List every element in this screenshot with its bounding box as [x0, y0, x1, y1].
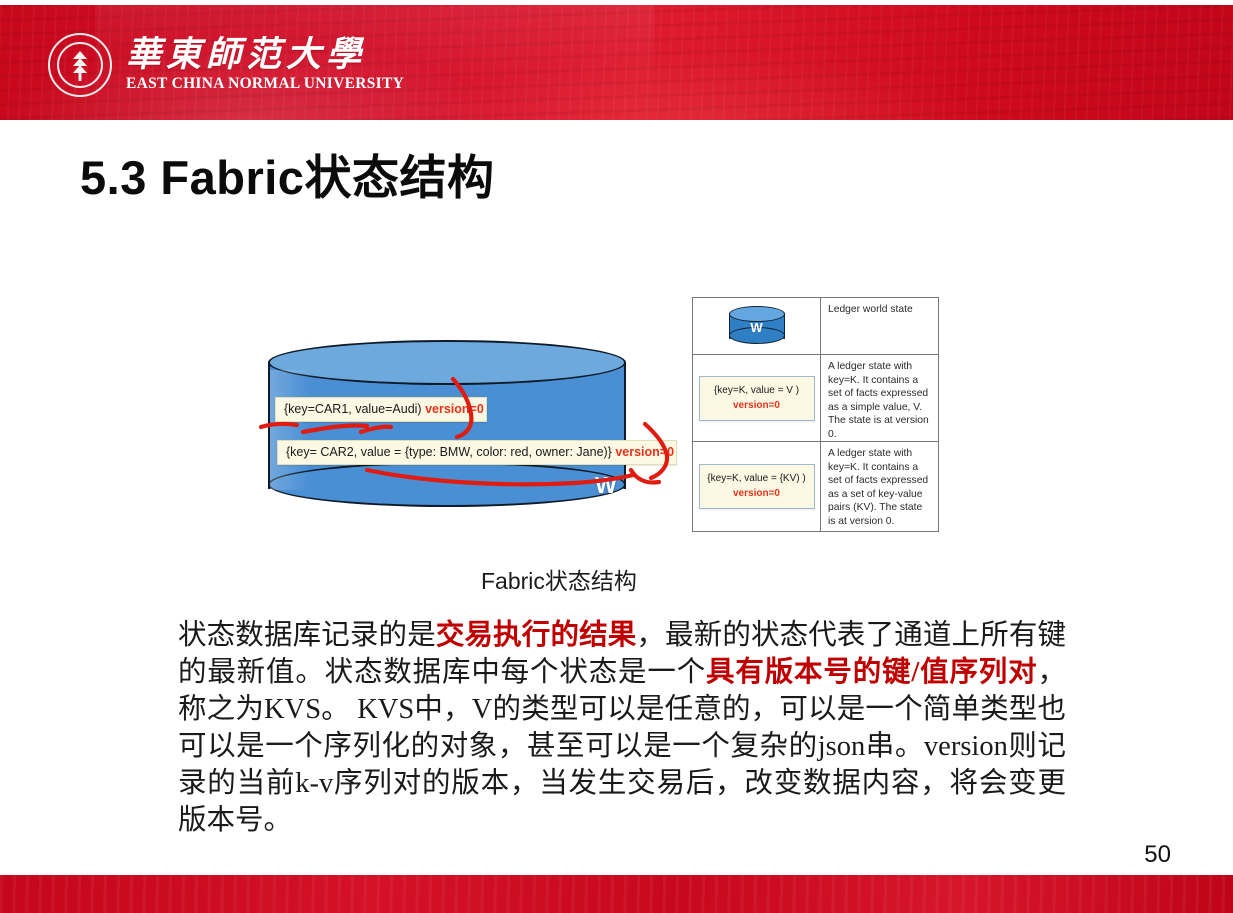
body-segment-3: 具有版本号的键/值序列对: [706, 657, 1037, 688]
university-seal-icon: [48, 33, 112, 97]
legend-icon-cell-3: {key=K, value = {KV) ) version=0: [693, 442, 821, 531]
kv-simple-version: version=0: [703, 398, 811, 413]
kv-box-car1-text: {key=CAR1, value=Audi): [284, 402, 425, 416]
cylinder-w-label: W: [595, 472, 617, 499]
university-wordmark: 華東師范大學 EAST CHINA NORMAL UNIVERSITY: [126, 37, 404, 94]
body-segment-1: 交易执行的结果: [436, 620, 637, 651]
cylinder-bottom: [268, 462, 626, 507]
page-number: 50: [1144, 841, 1171, 869]
body-paragraph: 状态数据库记录的是交易执行的结果，最新的状态代表了通道上所有键的最新值。状态数据…: [178, 617, 1066, 839]
legend-desc-2: A ledger state with key=K. It contains a…: [821, 355, 938, 441]
world-state-cylinder: [268, 340, 628, 510]
cylinder-top: [268, 340, 626, 385]
body-segment-0: 状态数据库记录的是: [178, 620, 436, 651]
mini-cylinder-w-label: W: [729, 320, 785, 335]
kv-box-car1: {key=CAR1, value=Audi) version=0: [275, 397, 487, 422]
kv-box-car1-version: version=0: [425, 402, 484, 416]
university-name-cn: 華東師范大學: [126, 37, 404, 73]
slide: 華東師范大學 EAST CHINA NORMAL UNIVERSITY 5.3 …: [0, 0, 1233, 913]
kv-simple-icon: {key=K, value = V ) version=0: [699, 376, 815, 421]
kv-pairs-text: {key=K, value = {KV) ): [707, 473, 805, 484]
world-state-cylinder-icon: W: [729, 306, 785, 346]
page-title: 5.3 Fabric状态结构: [80, 139, 494, 208]
figure-caption: Fabric状态结构: [481, 562, 637, 596]
legend-row-simple-value: {key=K, value = V ) version=0 A ledger s…: [693, 355, 938, 442]
legend-row-kv-pairs: {key=K, value = {KV) ) version=0 A ledge…: [693, 442, 938, 531]
figure-world-state-diagram: W {key=CAR1, value=Audi) version=0 {key=…: [255, 292, 955, 542]
kv-simple-text: {key=K, value = V ): [714, 385, 799, 396]
kv-pairs-version: version=0: [703, 486, 811, 501]
kv-box-car2-version: version=0: [615, 445, 674, 459]
kv-pairs-icon: {key=K, value = {KV) ) version=0: [699, 464, 815, 509]
kv-box-car2-text: {key= CAR2, value = {type: BMW, color: r…: [286, 445, 615, 459]
university-logo: 華東師范大學 EAST CHINA NORMAL UNIVERSITY: [48, 33, 404, 97]
legend-table: W Ledger world state {key=K, value = V )…: [692, 297, 939, 532]
ink-bracket-2b: [631, 470, 659, 483]
legend-desc-1: Ledger world state: [821, 298, 938, 354]
legend-icon-cell-2: {key=K, value = V ) version=0: [693, 355, 821, 441]
university-name-en: EAST CHINA NORMAL UNIVERSITY: [126, 75, 404, 93]
footer-band: [0, 875, 1233, 913]
kv-box-car2: {key= CAR2, value = {type: BMW, color: r…: [277, 440, 677, 465]
header-band: 華東師范大學 EAST CHINA NORMAL UNIVERSITY: [0, 5, 1233, 120]
legend-icon-cell-1: W: [693, 298, 821, 354]
legend-desc-3: A ledger state with key=K. It contains a…: [821, 442, 938, 531]
legend-row-world-state: W Ledger world state: [693, 298, 938, 355]
